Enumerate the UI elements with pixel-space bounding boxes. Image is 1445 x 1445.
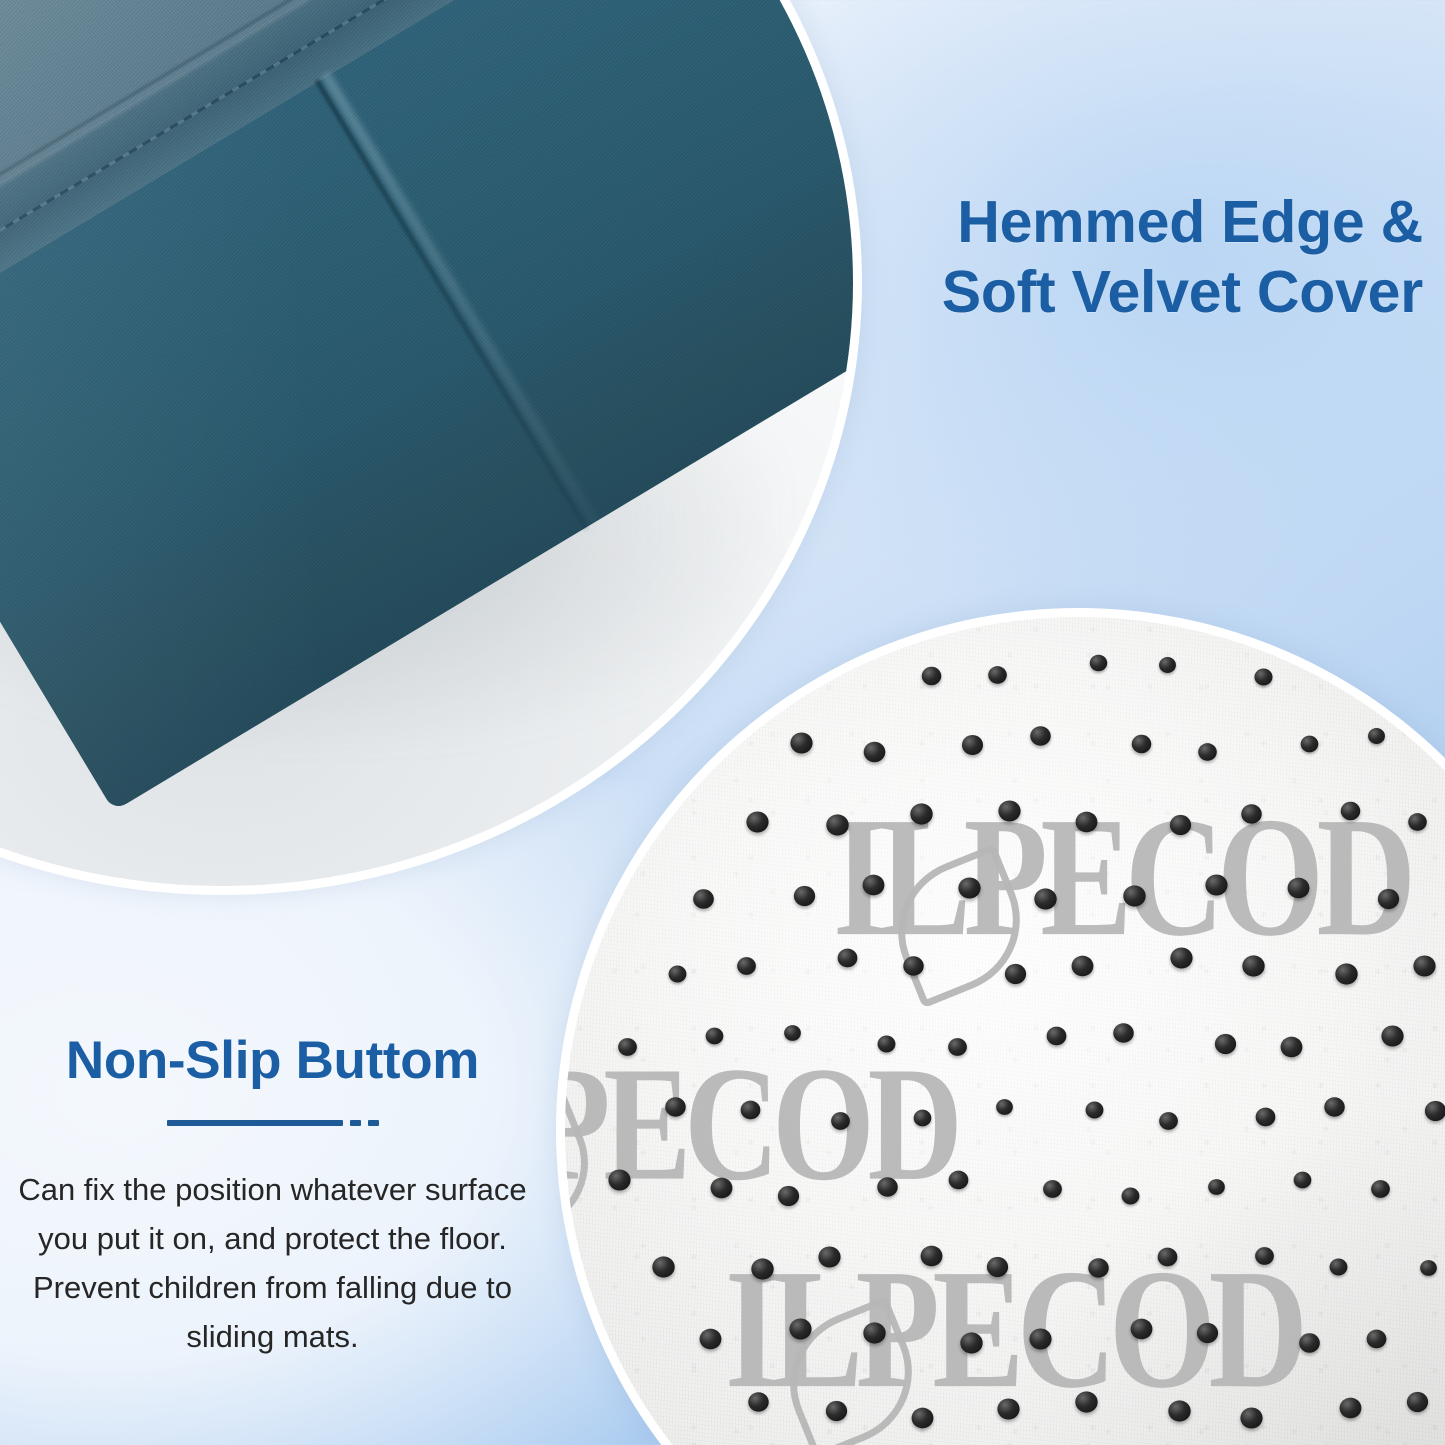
antislip-dot <box>1169 1401 1191 1422</box>
antislip-dot <box>1034 888 1056 909</box>
antislip-dot <box>619 1038 638 1056</box>
antislip-dot <box>1371 1180 1390 1198</box>
antislip-dot <box>1281 1036 1303 1057</box>
antislip-dot <box>741 1101 761 1120</box>
antislip-dot <box>794 886 815 906</box>
nonslip-mat-photo: ILPECOD ILPECOD ILPECOD <box>556 608 1445 1445</box>
antislip-dot <box>1293 1172 1311 1189</box>
antislip-dot <box>706 1028 724 1045</box>
divider-dash <box>368 1120 379 1126</box>
antislip-dot <box>1413 955 1435 976</box>
antislip-dot <box>1113 1024 1134 1043</box>
antislip-dot <box>1255 1247 1274 1265</box>
antislip-dot <box>1421 1260 1438 1276</box>
antislip-dot <box>1241 1407 1263 1428</box>
antislip-dot <box>948 1038 967 1056</box>
antislip-dot <box>1255 668 1273 685</box>
antislip-dot <box>1242 956 1264 977</box>
antislip-dot <box>877 1036 895 1053</box>
description-line-3: Prevent children from falling due to <box>0 1264 545 1313</box>
antislip-dot <box>748 1392 769 1411</box>
antislip-dot <box>652 1256 674 1277</box>
antislip-dot <box>700 1329 722 1350</box>
antislip-dot <box>1341 802 1361 821</box>
antislip-dot <box>1381 1025 1403 1046</box>
antislip-dot <box>1299 1334 1320 1354</box>
antislip-dot <box>1029 1328 1051 1349</box>
headline-line-1: Hemmed Edge & <box>763 188 1423 258</box>
antislip-dot <box>1047 1026 1067 1045</box>
antislip-dot <box>961 735 982 755</box>
antislip-dot <box>1121 1187 1139 1204</box>
antislip-dot <box>1157 1248 1177 1267</box>
antislip-dot <box>1335 963 1357 984</box>
antislip-dot <box>1088 1259 1109 1278</box>
nonslip-feature-block: Non-Slip Buttom Can fix the position wha… <box>0 1032 545 1362</box>
antislip-dot <box>1206 875 1228 896</box>
antislip-dot <box>921 1245 943 1266</box>
antislip-dot <box>877 1178 898 1197</box>
antislip-dot <box>960 1333 982 1354</box>
antislip-dot <box>710 1178 732 1199</box>
antislip-dot <box>1407 1392 1428 1412</box>
antislip-dot <box>959 877 981 898</box>
antislip-dot <box>911 804 933 825</box>
antislip-dot <box>789 1318 811 1339</box>
antislip-dot <box>837 949 857 968</box>
antislip-dot <box>1408 813 1427 831</box>
antislip-dot <box>1339 1398 1361 1419</box>
headline-line-2: Soft Velvet Cover <box>763 258 1423 328</box>
antislip-dot <box>1425 1101 1445 1121</box>
antislip-dot <box>1256 1108 1276 1127</box>
antislip-dot <box>737 957 756 975</box>
antislip-dot <box>863 875 885 896</box>
antislip-dot <box>1197 1323 1218 1343</box>
antislip-dot <box>998 800 1020 821</box>
mat-photo-inner: ILPECOD ILPECOD ILPECOD <box>565 617 1445 1445</box>
antislip-dot <box>1368 728 1385 744</box>
antislip-dot <box>1076 1391 1098 1412</box>
antislip-dot <box>996 1099 1013 1115</box>
antislip-dot <box>747 811 769 832</box>
antislip-dot <box>1300 736 1318 753</box>
antislip-dot <box>1324 1097 1345 1116</box>
antislip-dot <box>989 666 1008 684</box>
antislip-dot <box>903 956 924 975</box>
antislip-dot <box>1089 655 1106 672</box>
antislip-dot <box>751 1258 773 1279</box>
antislip-dot <box>922 667 942 686</box>
antislip-dot <box>831 1112 850 1130</box>
antislip-dot <box>1170 947 1192 968</box>
antislip-dot <box>1378 889 1399 909</box>
antislip-dot <box>1241 804 1262 823</box>
antislip-dot <box>784 1025 801 1041</box>
antislip-dot <box>1130 1318 1152 1339</box>
antislip-dot <box>1123 885 1145 906</box>
description-line-2: you put it on, and protect the floor. <box>0 1215 545 1264</box>
antislip-dot <box>778 1186 799 1206</box>
antislip-dot <box>819 1247 841 1268</box>
divider-bar <box>167 1120 343 1126</box>
description-line-1: Can fix the position whatever surface <box>0 1166 545 1215</box>
antislip-dot <box>949 1171 969 1190</box>
antislip-dot <box>1366 1329 1386 1348</box>
antislip-dot <box>826 815 848 836</box>
divider-dash <box>350 1120 361 1126</box>
antislip-dot <box>1208 1179 1225 1195</box>
antislip-dot <box>1198 743 1217 761</box>
nonslip-divider <box>167 1120 379 1126</box>
antislip-dot <box>912 1408 934 1429</box>
antislip-dot <box>1170 815 1191 835</box>
antislip-dot-grid <box>565 617 1445 1445</box>
antislip-dot <box>1287 878 1309 899</box>
antislip-dot <box>826 1401 847 1421</box>
antislip-dot <box>1329 1258 1347 1275</box>
description-line-4: sliding mats. <box>0 1313 545 1362</box>
headline-hemmed-edge: Hemmed Edge & Soft Velvet Cover <box>763 188 1423 327</box>
antislip-dot <box>1043 1180 1062 1198</box>
antislip-dot <box>608 1169 630 1190</box>
antislip-dot <box>694 889 715 909</box>
antislip-dot <box>666 1097 687 1116</box>
antislip-dot <box>1159 1112 1178 1130</box>
antislip-dot <box>914 1109 932 1126</box>
antislip-dot <box>863 742 885 763</box>
antislip-dot <box>1132 734 1152 753</box>
antislip-dot <box>1159 657 1176 673</box>
antislip-dot <box>1215 1034 1236 1054</box>
antislip-dot <box>790 733 812 754</box>
antislip-dot <box>997 1398 1019 1419</box>
antislip-dot <box>669 966 687 983</box>
antislip-dot <box>1086 1102 1104 1119</box>
antislip-dot <box>864 1322 886 1343</box>
antislip-dot <box>1075 811 1097 832</box>
nonslip-title: Non-Slip Buttom <box>0 1032 545 1090</box>
antislip-dot <box>1072 955 1094 976</box>
nonslip-description: Can fix the position whatever surface yo… <box>0 1166 545 1362</box>
antislip-dot <box>1030 726 1051 745</box>
antislip-dot <box>1005 964 1026 984</box>
antislip-dot <box>987 1257 1008 1277</box>
